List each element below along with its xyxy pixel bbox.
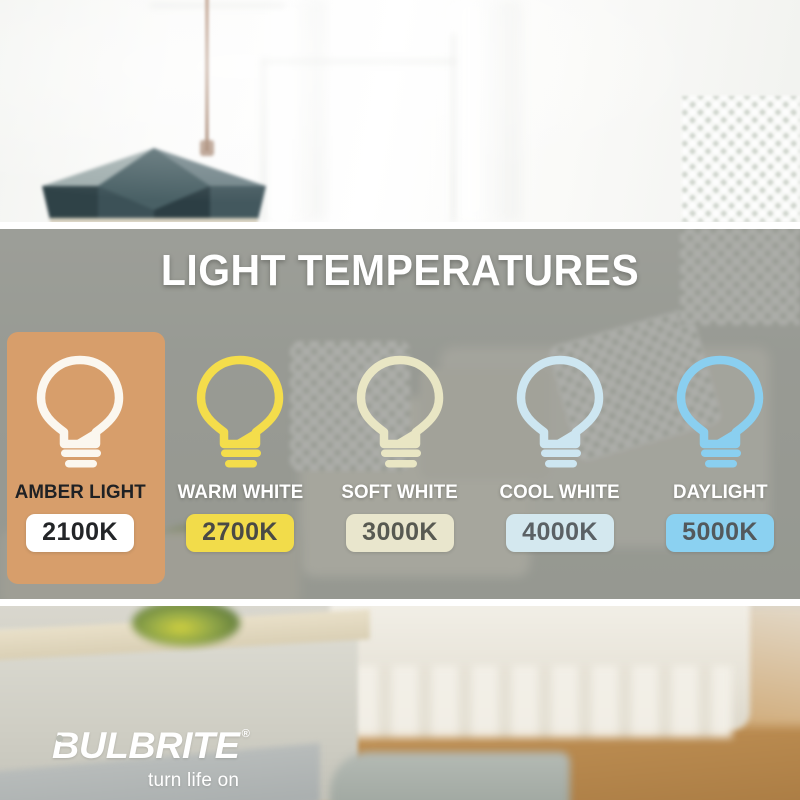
floor-cushion: [330, 752, 570, 800]
kelvin-badge: 3000K: [346, 514, 454, 552]
registered-trademark-icon: ®: [242, 729, 250, 740]
card-label: DAYLIGHT: [673, 481, 768, 504]
temperature-card-amber-light[interactable]: AMBER LIGHT 2100K: [0, 330, 160, 588]
sofa-pleats: [352, 666, 732, 738]
card-label: SOFT WHITE: [342, 481, 458, 504]
infographic-canvas: LIGHT TEMPERATURES AMBER LIGHT 2100K: [0, 0, 800, 800]
lightbulb-icon: [351, 354, 449, 470]
lightbulb-icon: [511, 354, 609, 470]
brand-logo: B ULBRITE ® turn life on: [52, 727, 246, 792]
lightbulb-icon: [671, 354, 769, 470]
temperature-card-soft-white[interactable]: SOFT WHITE 3000K: [320, 330, 480, 588]
temperature-card-daylight[interactable]: DAYLIGHT 5000K: [640, 330, 800, 588]
brand-notch-icon: [56, 735, 63, 742]
brand-name-rest: ULBRITE: [79, 727, 240, 764]
brand-wordmark: B ULBRITE ®: [52, 727, 249, 764]
kelvin-badge: 5000K: [666, 514, 774, 552]
photo-haze-overlay: [0, 0, 800, 222]
lightbulb-icon: [31, 354, 129, 470]
temperature-card-warm-white[interactable]: WARM WHITE 2700K: [160, 330, 320, 588]
brand-initial-letter: B: [52, 725, 79, 766]
kelvin-badge: 4000K: [506, 514, 614, 552]
divider-bottom: [0, 599, 800, 606]
lightbulb-icon: [191, 354, 289, 470]
kelvin-badge: 2100K: [26, 514, 134, 552]
card-label: COOL WHITE: [500, 481, 620, 504]
divider-top: [0, 222, 800, 229]
top-photo-pendant-lamp: [0, 0, 800, 222]
kelvin-badge: 2700K: [186, 514, 294, 552]
page-title: LIGHT TEMPERATURES: [28, 246, 772, 296]
card-label: WARM WHITE: [177, 481, 303, 504]
brand-initial: B: [52, 727, 79, 764]
card-label: AMBER LIGHT: [14, 481, 145, 504]
brand-tagline: turn life on: [148, 770, 246, 792]
temperature-card-cool-white[interactable]: COOL WHITE 4000K: [480, 330, 640, 588]
temperature-card-row: AMBER LIGHT 2100K WARM WHITE 2700K: [0, 330, 800, 588]
